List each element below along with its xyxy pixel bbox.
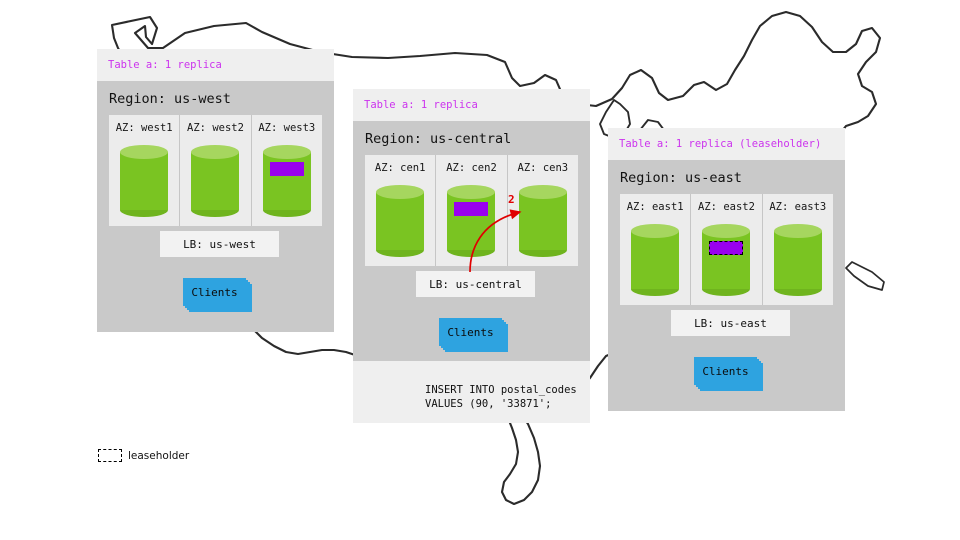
az-label: AZ: west2 [180, 122, 250, 134]
cylinder-body [376, 192, 424, 250]
az-label: AZ: cen1 [365, 162, 435, 174]
node-cylinder[interactable] [447, 185, 495, 257]
region-title-us-central: Region: us-central [365, 131, 511, 147]
cylinder-body [774, 231, 822, 289]
replica-marker[interactable] [454, 202, 488, 216]
load-balancer-us-west[interactable]: LB: us-west [160, 231, 279, 257]
legend-leaseholder: leaseholder [98, 449, 189, 462]
load-balancer-us-east[interactable]: LB: us-east [671, 310, 790, 336]
region-panel-us-east: Table a: 1 replica (leaseholder) Region:… [608, 128, 845, 411]
az-label: AZ: west3 [252, 122, 322, 134]
az-strip-us-east: AZ: east1 AZ: east2 [620, 194, 833, 305]
region-panel-us-central: Table a: 1 replica Region: us-central AZ… [353, 89, 590, 423]
node-cylinder[interactable] [774, 224, 822, 296]
table-label-strip-us-central: Table a: 1 replica [353, 89, 590, 121]
cylinder-body [631, 231, 679, 289]
load-balancer-us-central[interactable]: LB: us-central [416, 271, 535, 297]
node-cylinder[interactable] [263, 145, 311, 217]
cylinder-body [191, 152, 239, 210]
az-cell-cen2[interactable]: AZ: cen2 [435, 155, 506, 266]
clients-label: Clients [702, 365, 748, 378]
az-cell-cen3[interactable]: AZ: cen3 [507, 155, 578, 266]
clients-button-face[interactable]: Clients [439, 318, 502, 346]
table-label-strip-us-east: Table a: 1 replica (leaseholder) [608, 128, 845, 160]
cylinder-body [702, 231, 750, 289]
az-label: AZ: cen3 [508, 162, 578, 174]
az-cell-east2[interactable]: AZ: east2 [690, 194, 761, 305]
az-strip-us-central: AZ: cen1 AZ: cen2 [365, 155, 578, 266]
clients-button-face[interactable]: Clients [183, 278, 246, 306]
clients-label: Clients [447, 326, 493, 339]
az-cell-west3[interactable]: AZ: west3 [251, 115, 322, 226]
clients-label: Clients [191, 286, 237, 299]
lb-label: LB: us-west [183, 238, 256, 251]
cylinder-top [120, 145, 168, 159]
node-cylinder[interactable] [191, 145, 239, 217]
replica-marker[interactable] [270, 162, 304, 176]
node-cylinder[interactable] [376, 185, 424, 257]
node-cylinder[interactable] [631, 224, 679, 296]
lb-label: LB: us-east [694, 317, 767, 330]
table-replica-label: Table a: 1 replica (leaseholder) [619, 138, 821, 150]
step-number-2: 2 [508, 193, 515, 206]
cylinder-body [447, 192, 495, 250]
az-cell-east3[interactable]: AZ: east3 [762, 194, 833, 305]
table-replica-label: Table a: 1 replica [108, 59, 222, 71]
node-cylinder[interactable] [702, 224, 750, 296]
cylinder-top [774, 224, 822, 238]
az-label: AZ: west1 [109, 122, 179, 134]
dashed-rect-icon [98, 449, 122, 462]
cylinder-body [519, 192, 567, 250]
node-cylinder[interactable] [519, 185, 567, 257]
diagram-canvas: Table a: 1 replica Region: us-west AZ: w… [0, 0, 960, 540]
az-cell-east1[interactable]: AZ: east1 [620, 194, 690, 305]
cylinder-top [519, 185, 567, 199]
region-panel-us-west: Table a: 1 replica Region: us-west AZ: w… [97, 49, 334, 332]
region-title-us-east: Region: us-east [620, 170, 742, 186]
clients-button-us-central[interactable]: Clients [439, 318, 508, 352]
table-label-strip-us-west: Table a: 1 replica [97, 49, 334, 81]
replica-marker-leaseholder[interactable] [709, 241, 743, 255]
sql-statement-box: INSERT INTO postal_codes VALUES (90, '33… [413, 373, 585, 415]
az-label: AZ: east2 [691, 201, 761, 213]
az-cell-west2[interactable]: AZ: west2 [179, 115, 250, 226]
clients-button-us-west[interactable]: Clients [183, 278, 252, 312]
az-cell-west1[interactable]: AZ: west1 [109, 115, 179, 226]
table-replica-label: Table a: 1 replica [364, 99, 478, 111]
az-strip-us-west: AZ: west1 AZ: west2 [109, 115, 322, 226]
clients-button-us-east[interactable]: Clients [694, 357, 763, 391]
clients-button-face[interactable]: Clients [694, 357, 757, 385]
cylinder-top [631, 224, 679, 238]
node-cylinder[interactable] [120, 145, 168, 217]
az-cell-cen1[interactable]: AZ: cen1 [365, 155, 435, 266]
az-label: AZ: east1 [620, 201, 690, 213]
cylinder-body [120, 152, 168, 210]
cylinder-top [263, 145, 311, 159]
az-label: AZ: east3 [763, 201, 833, 213]
cylinder-body [263, 152, 311, 210]
legend-label: leaseholder [128, 450, 189, 462]
lb-label: LB: us-central [429, 278, 522, 291]
cylinder-top [376, 185, 424, 199]
az-label: AZ: cen2 [436, 162, 506, 174]
region-title-us-west: Region: us-west [109, 91, 231, 107]
